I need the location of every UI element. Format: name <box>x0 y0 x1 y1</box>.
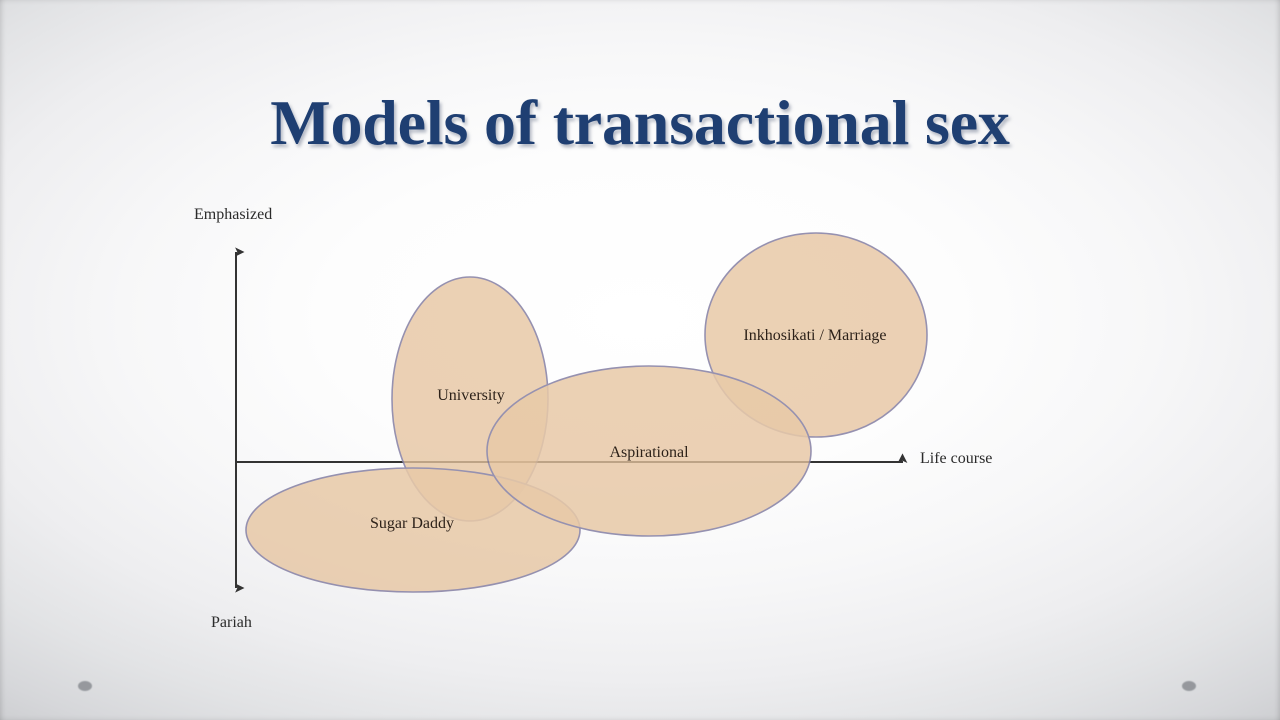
axis-label-emphasized: Emphasized <box>194 206 272 224</box>
axis-label-pariah: Pariah <box>211 614 252 632</box>
bottom-left-dot <box>78 681 92 691</box>
transactional-sex-diagram: Emphasized Pariah Life course University… <box>0 0 1280 720</box>
shape-label-inkhosikati-marriage: Inkhosikati / Marriage <box>743 327 886 345</box>
shapes-group <box>0 0 1280 720</box>
shape-label-aspirational: Aspirational <box>609 444 688 462</box>
shape-label-sugar-daddy: Sugar Daddy <box>370 515 454 533</box>
shape-label-university: University <box>437 387 505 405</box>
axis-label-life-course: Life course <box>920 450 992 468</box>
slide-canvas: Models of transactional sex <box>0 0 1280 720</box>
bottom-right-dot <box>1182 681 1196 691</box>
